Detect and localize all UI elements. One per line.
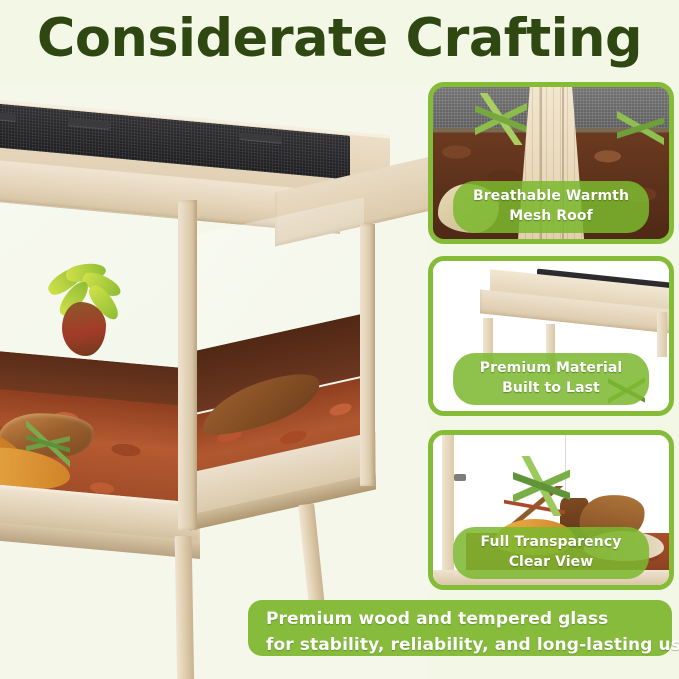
label-line-1: Full Transparency xyxy=(461,533,641,552)
artificial-plant xyxy=(617,102,664,154)
page-title: Considerate Crafting xyxy=(3,12,675,66)
caption-line-2: for stability, reliability, and long-las… xyxy=(266,633,658,659)
tall-artificial-plant xyxy=(44,264,128,360)
stand-leg xyxy=(175,536,195,679)
label-line-2: Clear View xyxy=(461,553,641,572)
feature-panel-premium-material: Premium Material Built to Last xyxy=(428,256,674,416)
bottom-caption-bar: Premium wood and tempered glass for stab… xyxy=(248,600,672,656)
artificial-plant xyxy=(513,456,570,516)
glass-clip xyxy=(454,474,466,481)
corner-post xyxy=(442,435,454,585)
panel-label-full-transparency: Full Transparency Clear View xyxy=(453,527,649,579)
label-line-1: Premium Material xyxy=(461,359,641,378)
terrarium-illustration xyxy=(0,96,430,566)
artificial-plant xyxy=(26,414,70,474)
label-line-1: Breathable Warmth xyxy=(461,187,641,206)
panel-label-premium-material: Premium Material Built to Last xyxy=(453,353,649,405)
artificial-plant xyxy=(475,93,527,145)
feature-panel-full-transparency: Full Transparency Clear View xyxy=(428,430,674,590)
label-line-2: Built to Last xyxy=(461,379,641,398)
caption-line-1: Premium wood and tempered glass xyxy=(266,607,658,633)
hero-product-photo xyxy=(0,86,430,679)
corner-post xyxy=(657,312,666,357)
plant-base xyxy=(62,302,106,356)
panel-label-breathable-warmth: Breathable Warmth Mesh Roof xyxy=(453,181,649,233)
feature-panel-breathable-warmth: Breathable Warmth Mesh Roof xyxy=(428,82,674,244)
label-line-2: Mesh Roof xyxy=(461,207,641,226)
corner-post xyxy=(178,200,197,530)
product-feature-image: Considerate Crafting xyxy=(0,0,679,679)
corner-post xyxy=(360,224,375,486)
